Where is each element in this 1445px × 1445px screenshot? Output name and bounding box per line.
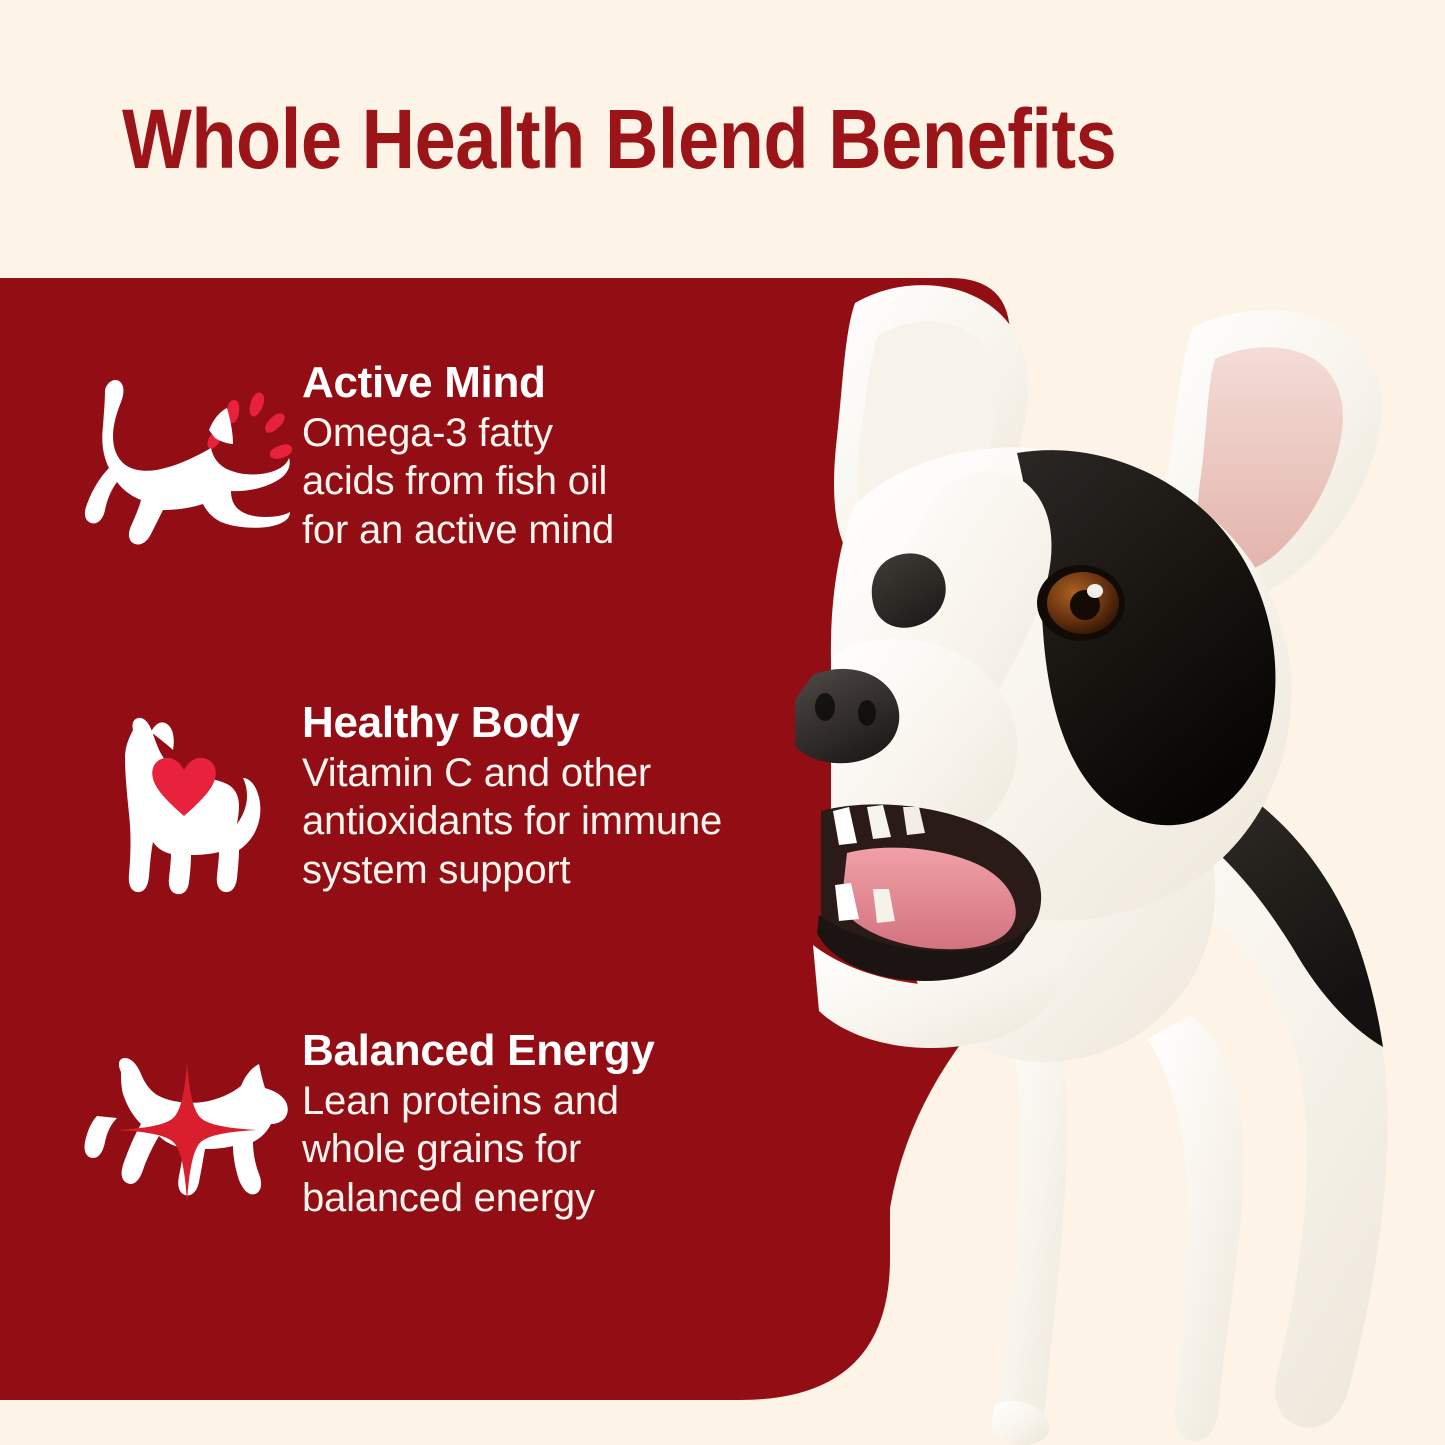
benefit-title: Balanced Energy (302, 1028, 655, 1075)
page-title: Whole Health Blend Benefits (122, 97, 1116, 181)
benefit-description: Vitamin C and other antioxidants for imm… (302, 749, 722, 895)
benefit-copy: Healthy Body Vitamin C and other antioxi… (302, 698, 722, 895)
dog-eye (1037, 565, 1125, 641)
title-bar: Whole Health Blend Benefits (0, 0, 1445, 278)
benefit-description: Lean proteins and whole grains for balan… (302, 1077, 655, 1223)
benefit-copy: Balanced Energy Lean proteins and whole … (302, 1026, 655, 1223)
dog-standing-with-heart-icon (72, 698, 302, 896)
benefit-title: Active Mind (302, 360, 614, 407)
dog-ear-right (1164, 310, 1382, 602)
benefit-title: Healthy Body (302, 700, 722, 747)
benefit-description: Omega-3 fatty acids from fish oil for an… (302, 409, 614, 555)
benefits-list: Active Mind Omega-3 fatty acids from fis… (0, 278, 1010, 1400)
benefit-item-healthy-body: Healthy Body Vitamin C and other antioxi… (72, 698, 722, 896)
benefit-copy: Active Mind Omega-3 fatty acids from fis… (302, 358, 614, 555)
benefit-item-balanced-energy: Balanced Energy Lean proteins and whole … (72, 1026, 655, 1223)
benefit-item-active-mind: Active Mind Omega-3 fatty acids from fis… (72, 358, 614, 555)
dog-face-mask (1017, 450, 1275, 825)
dog-play-bow-with-spark-lines-icon (72, 358, 302, 552)
dog-trotting-with-sparkle-icon (72, 1026, 302, 1216)
poster-canvas: Whole Health Blend Benefits (0, 0, 1445, 1445)
